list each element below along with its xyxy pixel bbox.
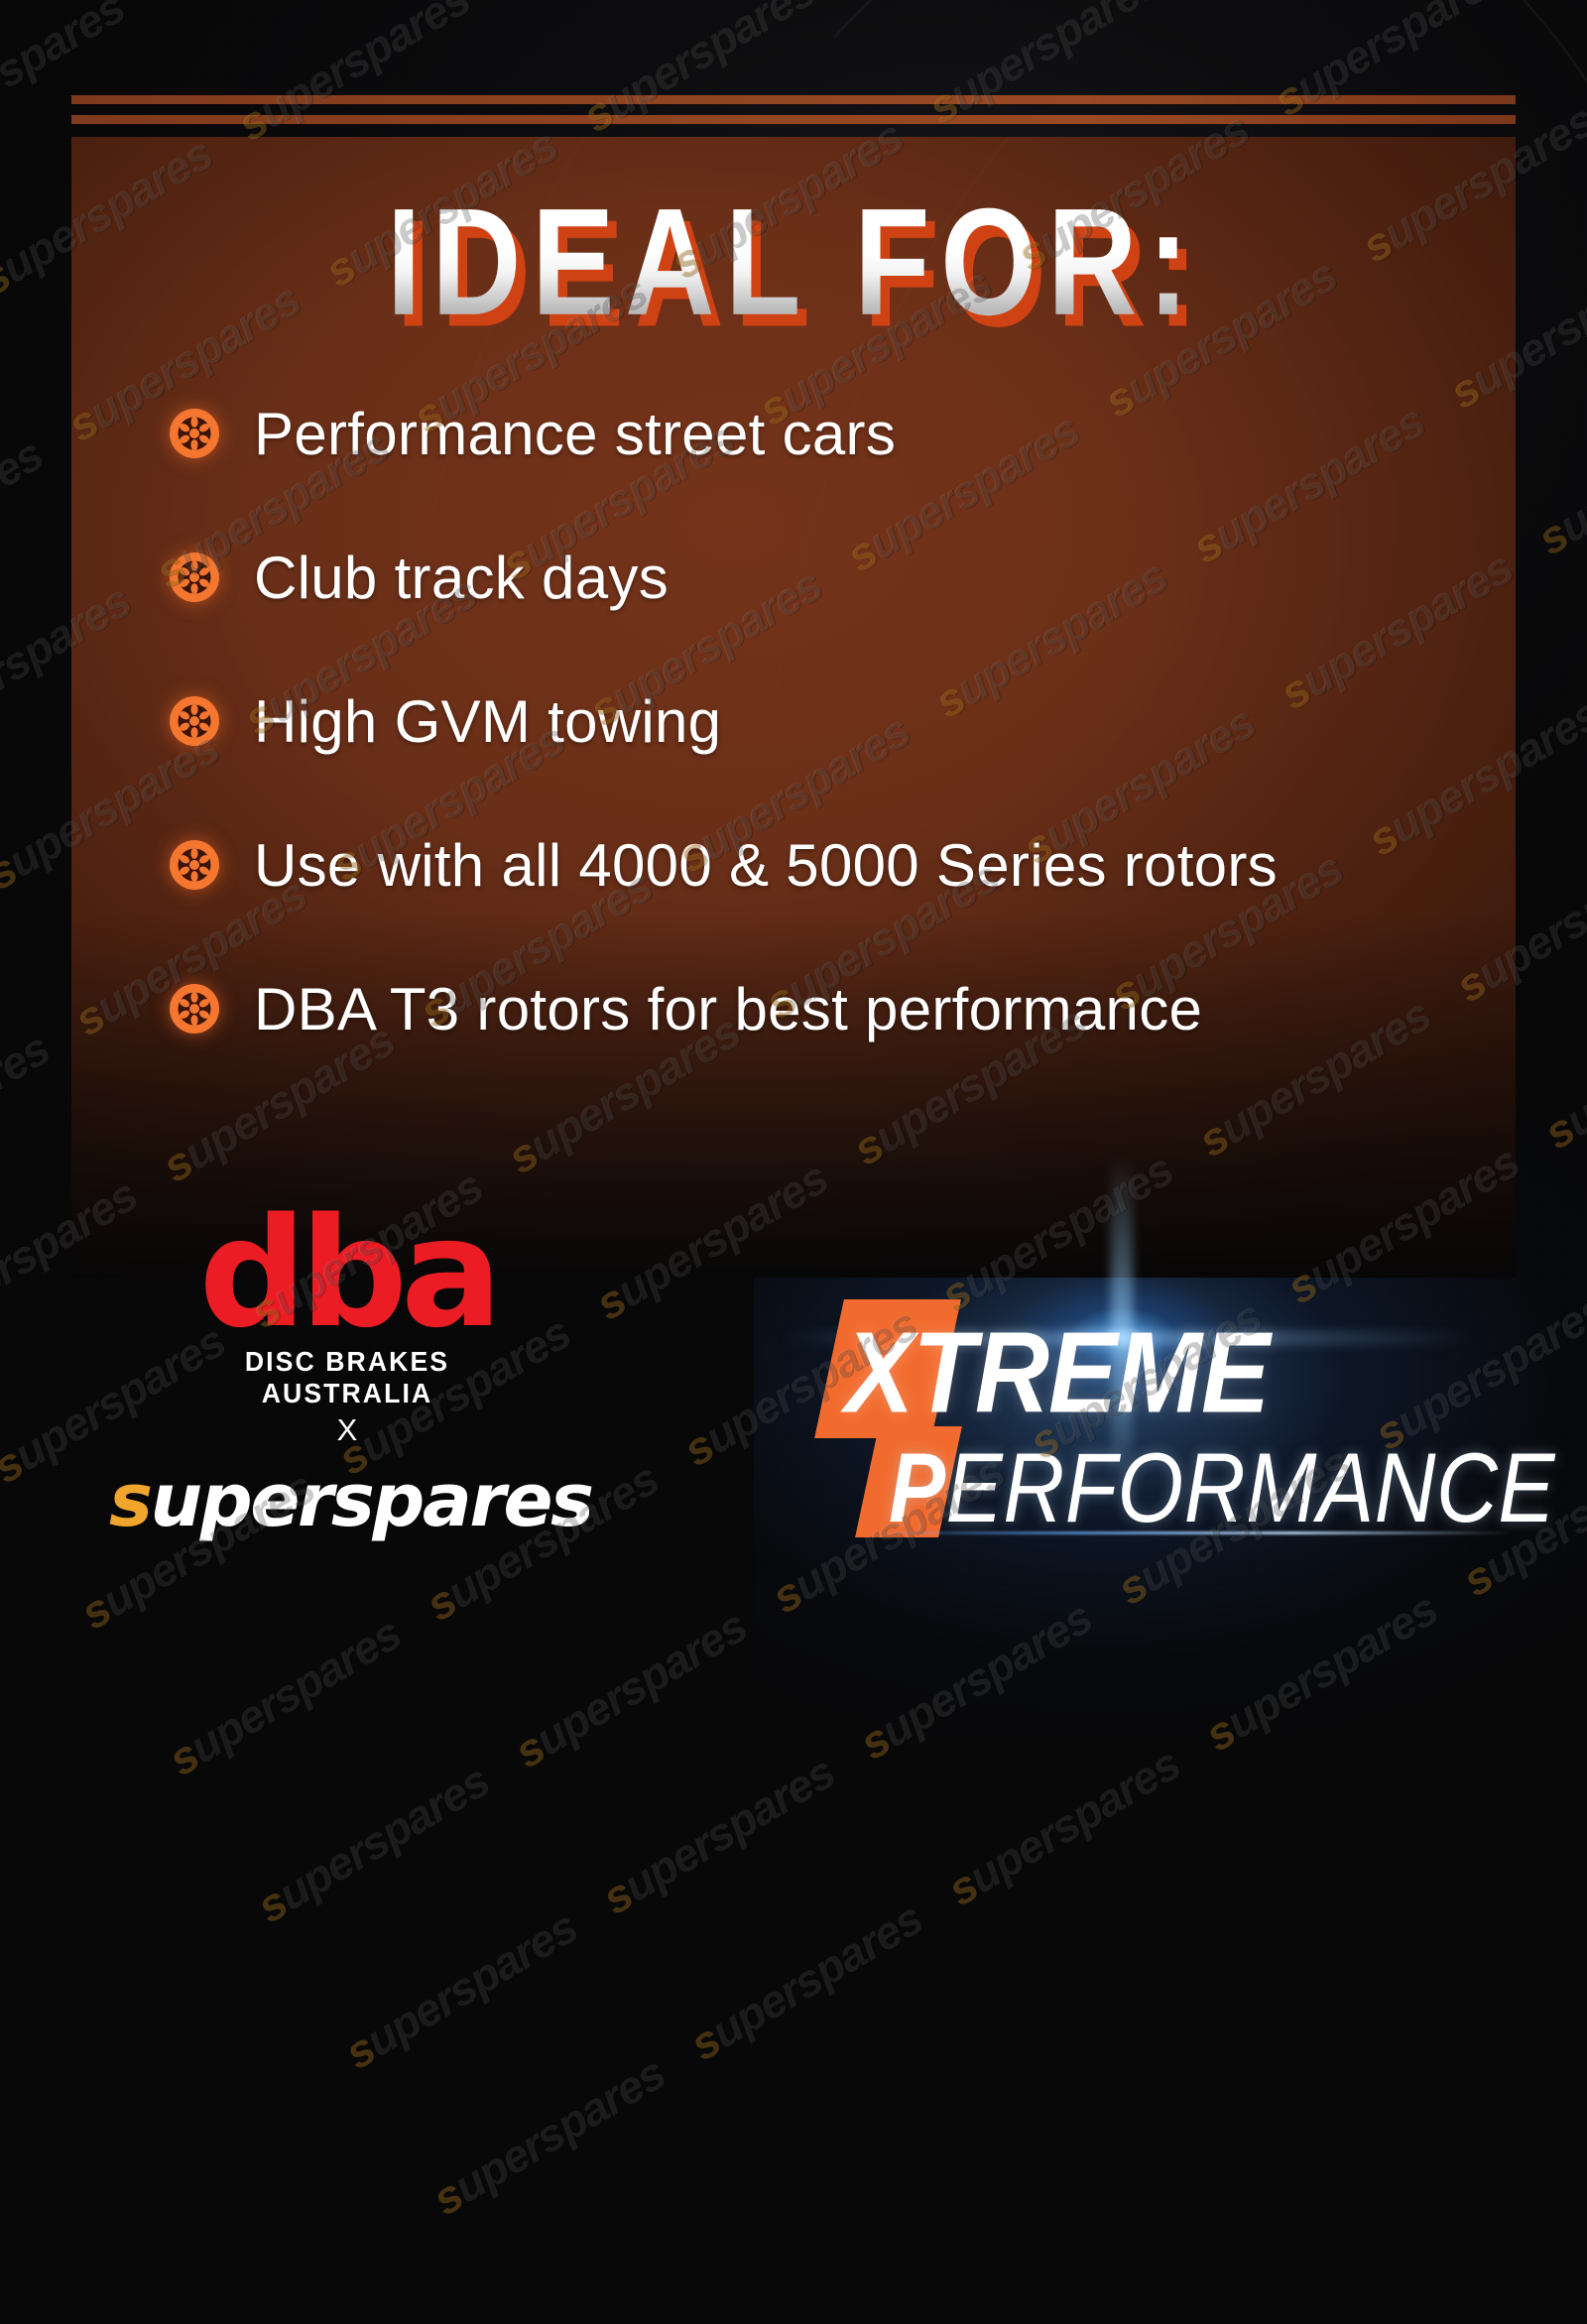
superspares-logo: superspares <box>109 1458 585 1543</box>
watermark-text: superspares <box>247 1753 498 1933</box>
performance-wordmark: PERFORMANCE <box>889 1438 1555 1536</box>
list-item-label: Use with all 4000 & 5000 Series rotors <box>254 834 1278 897</box>
wheel-rotor-icon <box>169 551 220 603</box>
dba-tagline: DISC BRAKES AUSTRALIA <box>183 1346 513 1409</box>
watermark-text: superspares <box>680 1892 931 2072</box>
superspares-first-letter: s <box>109 1458 151 1543</box>
watermark-text: superspares <box>593 1745 844 1925</box>
wheel-rotor-icon <box>169 839 220 891</box>
list-item: High GVM towing <box>169 682 1488 760</box>
watermark-text: superspares <box>505 1598 756 1778</box>
list-item: DBA T3 rotors for best performance <box>169 970 1488 1047</box>
dba-logo: dba DISC BRAKES AUSTRALIA <box>174 1212 521 1409</box>
performance-rest: ERFORMANCE <box>946 1432 1555 1542</box>
collab-separator: X <box>174 1412 521 1448</box>
list-item: Club track days <box>169 539 1488 616</box>
wheel-rotor-icon <box>169 983 220 1035</box>
page-title: IDEAL FOR: <box>71 186 1516 304</box>
watermark-text: superspares <box>160 1607 411 1787</box>
xtreme-performance-logo: XTREME PERFORMANCE <box>829 1289 1524 1537</box>
superspares-wordmark: superspares <box>109 1458 592 1543</box>
watermark-text: superspares <box>424 2046 674 2227</box>
watermark-text: superspares <box>938 1737 1189 1917</box>
watermark-text: superspares <box>1195 1582 1446 1763</box>
xtreme-wordmark: XTREME <box>845 1315 1269 1430</box>
feature-list: Performance street cars Club track days <box>169 395 1488 1047</box>
list-item-label: High GVM towing <box>254 690 721 753</box>
wheel-rotor-icon <box>169 695 220 747</box>
list-item-label: Club track days <box>254 547 669 609</box>
list-item-label: DBA T3 rotors for best performance <box>254 978 1202 1040</box>
page-title-text: IDEAL FOR: <box>387 186 1199 338</box>
superspares-rest: uperspares <box>151 1458 592 1543</box>
panel-top-rule-1 <box>71 95 1516 104</box>
list-item: Performance street cars <box>169 395 1488 472</box>
panel-top-rule-2 <box>71 115 1516 124</box>
blue-light-streak <box>859 1531 1514 1534</box>
list-item-label: Performance street cars <box>254 403 896 465</box>
watermark-text: superspares <box>850 1590 1101 1771</box>
watermark-text: superspares <box>335 1899 586 2080</box>
dba-wordmark: dba <box>174 1212 521 1336</box>
performance-initial: P <box>889 1432 946 1542</box>
wheel-rotor-icon <box>169 408 220 459</box>
list-item: Use with all 4000 & 5000 Series rotors <box>169 826 1488 904</box>
